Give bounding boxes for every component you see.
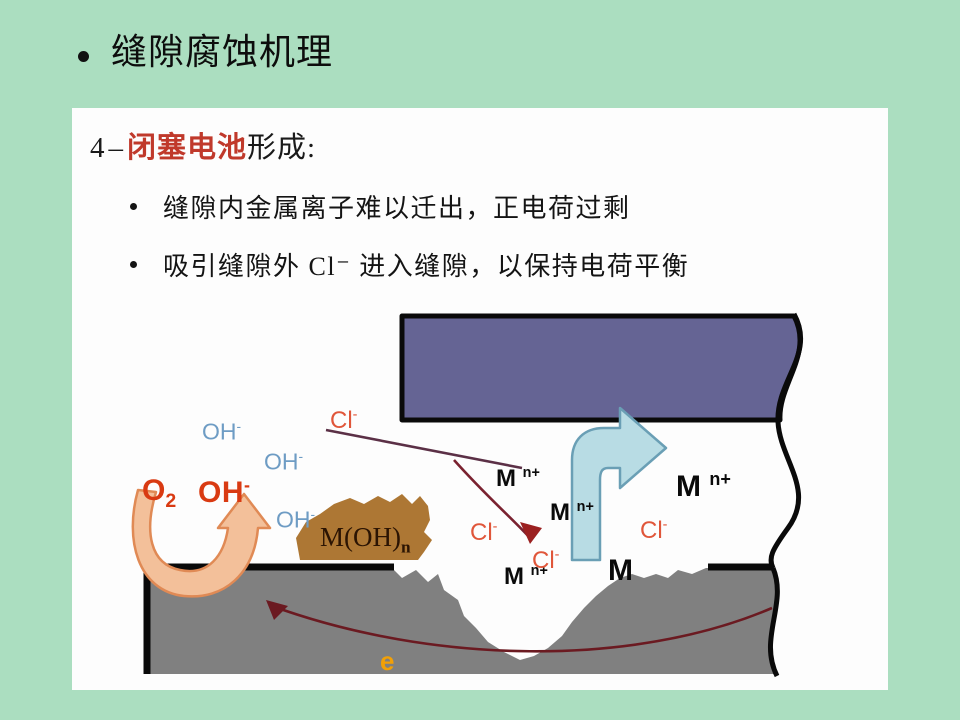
label-oh-3: OH- <box>276 508 315 532</box>
metal-substrate <box>144 568 776 674</box>
label-cl-top: Cl- <box>330 408 357 433</box>
content-panel: 4–闭塞电池形成: 缝隙内金属离子难以迁出，正电荷过剩 吸引缝隙外 Cl⁻ 进入… <box>72 108 888 690</box>
label-oh-red: OH- <box>198 476 251 508</box>
chloride-migration-line <box>326 430 522 468</box>
label-cl-right: Cl- <box>640 518 667 543</box>
page-title-text: 缝隙腐蚀机理 <box>111 30 333 75</box>
label-oh-2: OH- <box>264 450 303 474</box>
label-m-ion-1: M n+ <box>496 466 540 491</box>
label-electron: e <box>380 648 394 674</box>
label-o2: O2 <box>142 476 176 512</box>
label-m-ion-out: M n+ <box>676 470 731 502</box>
label-cl-left: Cl- <box>470 520 497 545</box>
label-cl-mid: Cl- <box>532 548 559 573</box>
page-title: 缝隙腐蚀机理 <box>78 30 333 75</box>
label-corrosion-product: M(OH)n <box>320 524 411 556</box>
upper-crevice-block <box>402 316 800 420</box>
title-bullet-icon <box>78 51 89 62</box>
label-m-ion-2: M n+ <box>550 500 594 525</box>
label-m-metal: M <box>608 556 633 586</box>
label-oh-1: OH- <box>202 420 241 444</box>
break-line-middle <box>771 422 799 568</box>
crevice-corrosion-diagram: Cl- OH- OH- OH- O2 OH- M(OH)n M n+ M n+ … <box>72 108 888 690</box>
